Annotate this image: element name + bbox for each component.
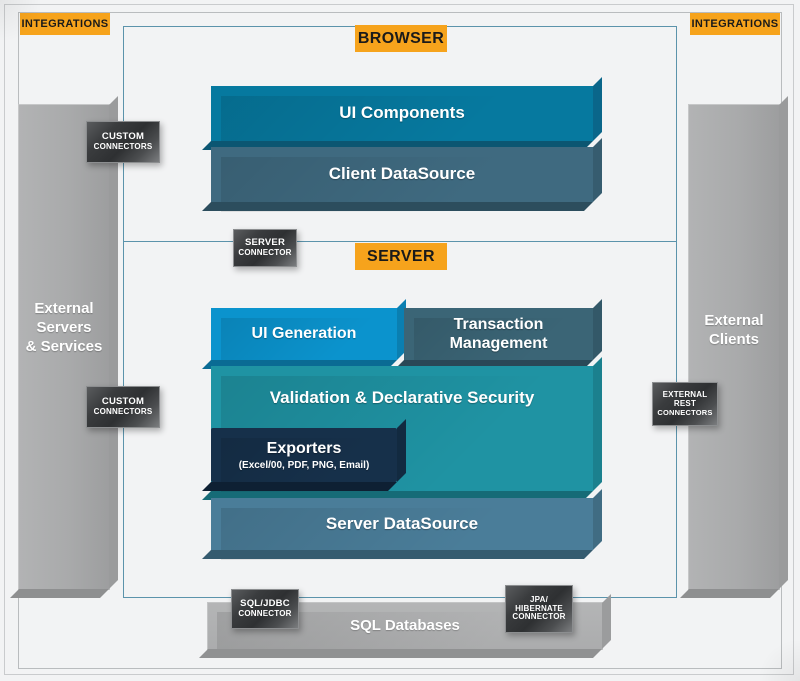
block-server-datasource: Server DataSource <box>211 498 593 550</box>
pillar-left-line3: & Services <box>19 337 109 356</box>
block-bevel-right <box>397 419 406 482</box>
pillar-left-line1: External <box>19 299 109 318</box>
pillar-bevel-right <box>779 96 788 589</box>
architecture-diagram: INTEGRATIONS INTEGRATIONS BROWSER SERVER… <box>0 0 800 681</box>
block-bevel-bottom <box>202 482 397 491</box>
pillar-left-line2: Servers <box>19 318 109 337</box>
connector-line2: CONNECTOR <box>238 249 291 258</box>
pillar-bevel-bottom <box>680 589 779 598</box>
block-exporters: Exporters (Excel/00, PDF, PNG, Email) <box>211 428 397 482</box>
browser-label: BROWSER <box>355 25 447 52</box>
block-title: Server DataSource <box>326 514 478 534</box>
block-title: UI Generation <box>252 324 357 343</box>
external-rest-connectors-chip[interactable]: EXTERNAL REST CONNECTORS <box>652 382 718 426</box>
block-bevel-right <box>593 357 602 491</box>
server-label: SERVER <box>355 243 447 270</box>
connector-line2: CONNECTORS <box>94 143 153 152</box>
sql-jdbc-connector-chip[interactable]: SQL/JDBC CONNECTOR <box>231 589 299 629</box>
pillar-bevel-right <box>109 96 118 589</box>
block-bevel-right <box>593 77 602 141</box>
block-bevel-bottom <box>202 202 593 211</box>
block-title: Validation & Declarative Security <box>211 388 593 408</box>
external-clients-pillar: External Clients <box>688 104 780 590</box>
custom-connectors-chip-top[interactable]: CUSTOM CONNECTORS <box>86 121 160 163</box>
block-title: UI Components <box>339 103 465 123</box>
integrations-label-left: INTEGRATIONS <box>20 13 110 35</box>
block-title: Client DataSource <box>329 164 475 184</box>
pillar-right-line2: Clients <box>689 330 779 349</box>
block-client-datasource: Client DataSource <box>211 147 593 202</box>
block-transaction-management: Transaction Management <box>404 308 593 360</box>
connector-line3: CONNECTORS <box>657 409 712 417</box>
integrations-label-right: INTEGRATIONS <box>690 13 780 35</box>
block-bevel-bottom <box>202 550 593 559</box>
block-title-line2: Management <box>450 334 548 353</box>
external-servers-label: External Servers & Services <box>19 299 109 357</box>
pillar-right-line1: External <box>689 311 779 330</box>
block-title-line1: Transaction <box>454 315 544 334</box>
custom-connectors-chip-bottom[interactable]: CUSTOM CONNECTORS <box>86 386 160 428</box>
block-ui-components: UI Components <box>211 86 593 141</box>
slab-bevel-right <box>602 594 611 649</box>
slab-bevel-bottom <box>199 649 602 658</box>
connector-line2: CONNECTOR <box>238 610 291 619</box>
pillar-bevel-bottom <box>10 589 109 598</box>
external-clients-label: External Clients <box>689 311 779 349</box>
block-bevel-right <box>593 299 602 360</box>
jpa-hibernate-connector-chip[interactable]: JPA/ HIBERNATE CONNECTOR <box>505 585 573 633</box>
block-subtitle: (Excel/00, PDF, PNG, Email) <box>239 460 370 471</box>
block-ui-generation: UI Generation <box>211 308 397 360</box>
server-connector-chip[interactable]: SERVER CONNECTOR <box>233 229 297 267</box>
connector-line3: CONNECTOR <box>512 613 565 622</box>
block-bevel-right <box>593 138 602 202</box>
block-bevel-right <box>593 489 602 550</box>
block-title: Exporters <box>267 439 342 458</box>
connector-line2: CONNECTORS <box>94 408 153 417</box>
external-servers-pillar: External Servers & Services <box>18 104 110 590</box>
